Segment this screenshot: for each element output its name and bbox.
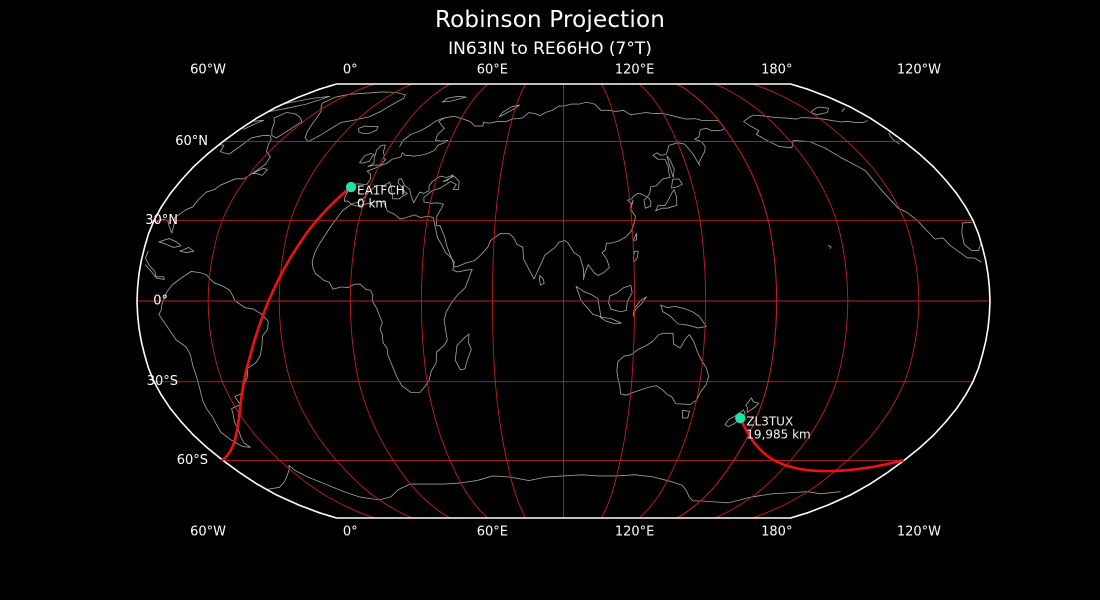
lon-tick-top: 120°W [897, 63, 941, 78]
coastline [145, 251, 164, 279]
coastline [829, 246, 832, 249]
coastline [962, 222, 981, 250]
coastline [272, 113, 302, 138]
destination-callsign-label: ZL3TUX [746, 415, 793, 429]
lat-tick-left: 0° [153, 294, 168, 309]
coastline [842, 108, 845, 111]
coastline [609, 285, 633, 311]
lon-tick-top: 180° [761, 63, 792, 78]
coastline [180, 247, 194, 252]
coastline [400, 118, 445, 147]
lon-tick-bottom: 60°W [190, 525, 226, 540]
coastline [661, 305, 707, 328]
coastline [312, 201, 472, 392]
graticule-layer [137, 84, 990, 518]
coastline [159, 239, 181, 248]
coastline [359, 126, 379, 133]
coastline [159, 271, 268, 447]
coastline [539, 275, 544, 284]
markers-layer[interactable]: EA1FCH0 kmZL3TUX19,985 km [346, 182, 811, 442]
robinson-map[interactable]: EA1FCH0 kmZL3TUX19,985 km 0°0°60°E60°E12… [0, 0, 1100, 600]
lon-tick-top: 60°W [190, 63, 226, 78]
lon-tick-bottom: 60°E [477, 525, 508, 540]
coastline [633, 233, 637, 240]
destination-distance-label: 19,985 km [746, 428, 810, 442]
lon-tick-top: 120°E [615, 63, 655, 78]
coastline [779, 140, 981, 262]
destination-marker[interactable] [735, 413, 745, 423]
map-figure: Robinson Projection IN63IN to RE66HO (7°… [0, 0, 1100, 600]
lon-tick-top: 0° [343, 63, 358, 78]
coastline [811, 107, 829, 115]
coastline [682, 410, 689, 417]
lat-tick-left: 30°S [147, 374, 178, 389]
lon-tick-bottom: 0° [343, 525, 358, 540]
lon-tick-bottom: 180° [761, 525, 792, 540]
origin-distance-label: 0 km [357, 197, 387, 211]
coastline [267, 465, 701, 501]
lat-tick-left: 60°N [175, 134, 208, 149]
coastline [746, 398, 759, 413]
lon-tick-bottom: 120°E [615, 525, 655, 540]
coastline [633, 297, 646, 316]
coastline [600, 317, 621, 324]
coastline [700, 492, 840, 503]
coastline [455, 334, 471, 370]
great-circle-line[interactable] [222, 187, 351, 460]
lon-tick-bottom: 120°W [897, 525, 941, 540]
lat-tick-left: 60°S [177, 453, 208, 468]
coastline [360, 153, 375, 163]
coastline [368, 145, 386, 167]
origin-marker[interactable] [346, 182, 356, 192]
coastline [671, 179, 682, 188]
origin-callsign-label: EA1FCH [357, 184, 405, 198]
lat-tick-left: 30°N [145, 213, 178, 228]
coastline [656, 189, 677, 210]
coastline [499, 105, 519, 117]
lon-tick-top: 60°E [477, 63, 508, 78]
coastline [442, 96, 466, 102]
